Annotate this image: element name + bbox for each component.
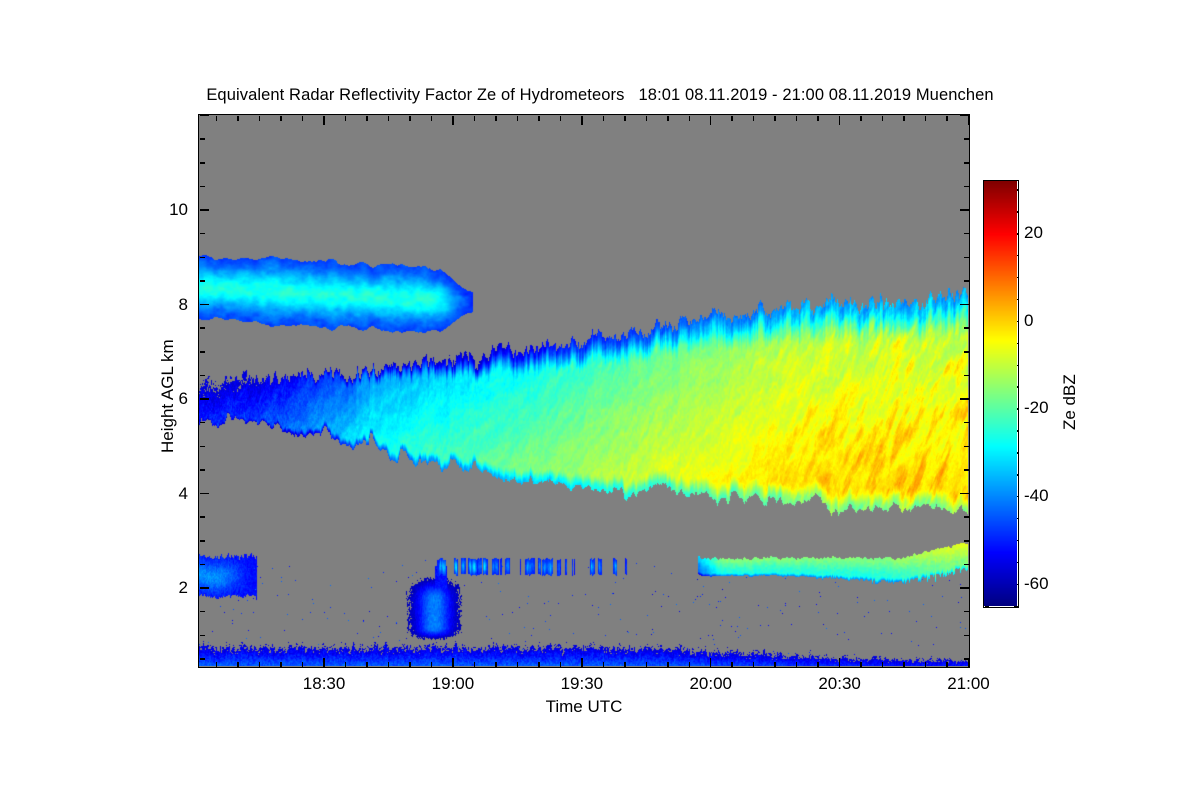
x-minor-tick	[731, 662, 733, 667]
x-minor-tick	[216, 662, 218, 667]
x-minor-tick	[345, 662, 347, 667]
x-minor-tick	[817, 662, 819, 667]
colorbar-tick-label: -60	[1024, 574, 1049, 594]
x-minor-tick-top	[431, 116, 433, 121]
figure-title: Equivalent Radar Reflectivity Factor Ze …	[0, 86, 1200, 105]
y-minor-tick-right	[964, 658, 969, 660]
x-minor-tick-top	[646, 116, 648, 121]
x-minor-tick-top	[624, 116, 626, 121]
x-minor-tick-top	[925, 116, 927, 121]
x-minor-tick	[925, 662, 927, 667]
x-major-tick-top	[452, 116, 454, 125]
x-minor-tick	[796, 662, 798, 667]
x-minor-tick-top	[753, 116, 755, 121]
x-minor-tick-top	[774, 116, 776, 121]
x-major-tick	[323, 658, 325, 667]
x-minor-tick	[603, 662, 605, 667]
x-minor-tick-top	[280, 116, 282, 121]
x-minor-tick-top	[667, 116, 669, 121]
y-minor-tick-right	[964, 375, 969, 377]
y-major-tick-right	[960, 398, 969, 400]
y-minor-tick-right	[964, 257, 969, 259]
x-major-tick	[710, 658, 712, 667]
y-minor-tick	[200, 280, 205, 282]
x-minor-tick	[946, 662, 948, 667]
x-major-tick-top	[323, 116, 325, 125]
x-minor-tick	[753, 662, 755, 667]
y-minor-tick	[200, 516, 205, 518]
x-major-tick-top	[839, 116, 841, 125]
x-minor-tick-top	[860, 116, 862, 121]
x-minor-tick	[495, 662, 497, 667]
colorbar-tick-label: 0	[1024, 311, 1033, 331]
y-major-tick	[200, 304, 209, 306]
x-minor-tick	[538, 662, 540, 667]
y-major-tick	[200, 209, 209, 211]
x-minor-tick	[474, 662, 476, 667]
x-minor-tick	[259, 662, 261, 667]
x-minor-tick-top	[817, 116, 819, 121]
x-tick-label: 20:00	[661, 674, 761, 694]
y-major-tick-right	[960, 587, 969, 589]
x-minor-tick-top	[517, 116, 519, 121]
colorbar-canvas	[984, 181, 1017, 606]
y-minor-tick-right	[964, 635, 969, 637]
y-minor-tick-right	[964, 162, 969, 164]
x-minor-tick	[560, 662, 562, 667]
y-minor-tick-right	[964, 564, 969, 566]
x-minor-tick	[431, 662, 433, 667]
y-major-tick	[200, 493, 209, 495]
x-minor-tick-top	[259, 116, 261, 121]
x-tick-label: 20:30	[790, 674, 890, 694]
x-minor-tick-top	[302, 116, 304, 121]
x-minor-tick	[409, 662, 411, 667]
y-minor-tick	[200, 422, 205, 424]
y-minor-tick-right	[964, 280, 969, 282]
x-minor-tick	[903, 662, 905, 667]
x-major-tick-top	[710, 116, 712, 125]
x-minor-tick	[366, 662, 368, 667]
x-major-tick	[452, 658, 454, 667]
x-minor-tick-top	[495, 116, 497, 121]
y-tick-label: 4	[108, 484, 188, 504]
y-minor-tick	[200, 138, 205, 140]
x-minor-tick-top	[216, 116, 218, 121]
y-major-tick-right	[960, 493, 969, 495]
x-minor-tick	[388, 662, 390, 667]
y-major-tick	[200, 398, 209, 400]
y-major-tick-right	[960, 209, 969, 211]
y-minor-tick	[200, 635, 205, 637]
x-minor-tick	[860, 662, 862, 667]
x-tick-label: 18:30	[274, 674, 374, 694]
x-major-tick-top	[968, 116, 970, 125]
colorbar-tick-label: -20	[1024, 398, 1049, 418]
x-minor-tick	[774, 662, 776, 667]
colorbar-axis-label: Ze dBZ	[1060, 374, 1080, 430]
y-major-tick	[200, 115, 209, 117]
y-minor-tick-right	[964, 516, 969, 518]
x-tick-label: 19:30	[532, 674, 632, 694]
x-major-tick-top	[581, 116, 583, 125]
y-major-tick	[200, 587, 209, 589]
x-minor-tick	[624, 662, 626, 667]
x-minor-tick-top	[882, 116, 884, 121]
y-minor-tick	[200, 611, 205, 613]
y-minor-tick	[200, 658, 205, 660]
colorbar-gradient	[983, 180, 1019, 608]
y-minor-tick	[200, 469, 205, 471]
y-minor-tick-right	[964, 327, 969, 329]
y-minor-tick	[200, 540, 205, 542]
y-minor-tick	[200, 564, 205, 566]
y-minor-tick-right	[964, 611, 969, 613]
radar-reflectivity-figure: Equivalent Radar Reflectivity Factor Ze …	[0, 0, 1200, 800]
x-minor-tick-top	[946, 116, 948, 121]
x-minor-tick	[689, 662, 691, 667]
x-tick-label: 21:00	[919, 674, 1019, 694]
x-minor-tick	[667, 662, 669, 667]
x-minor-tick-top	[796, 116, 798, 121]
x-minor-tick-top	[237, 116, 239, 121]
x-minor-tick	[517, 662, 519, 667]
y-axis-label: Height AGL km	[158, 339, 178, 453]
x-major-tick	[581, 658, 583, 667]
x-minor-tick-top	[538, 116, 540, 121]
x-minor-tick	[882, 662, 884, 667]
colorbar-tick-label: 20	[1024, 223, 1043, 243]
y-minor-tick-right	[964, 422, 969, 424]
y-minor-tick	[200, 162, 205, 164]
colorbar-tick-label: -40	[1024, 486, 1049, 506]
y-minor-tick	[200, 446, 205, 448]
colorbar	[983, 180, 1019, 608]
x-minor-tick-top	[388, 116, 390, 121]
x-minor-tick-top	[689, 116, 691, 121]
x-minor-tick-top	[603, 116, 605, 121]
y-tick-label: 10	[108, 200, 188, 220]
y-minor-tick-right	[964, 138, 969, 140]
y-minor-tick	[200, 351, 205, 353]
x-minor-tick-top	[345, 116, 347, 121]
y-minor-tick-right	[964, 233, 969, 235]
y-minor-tick	[200, 327, 205, 329]
x-minor-tick-top	[474, 116, 476, 121]
x-minor-tick-top	[409, 116, 411, 121]
y-minor-tick	[200, 375, 205, 377]
y-minor-tick	[200, 233, 205, 235]
y-minor-tick-right	[964, 469, 969, 471]
x-minor-tick-top	[903, 116, 905, 121]
x-minor-tick-top	[560, 116, 562, 121]
x-minor-tick-top	[366, 116, 368, 121]
x-minor-tick	[302, 662, 304, 667]
y-minor-tick-right	[964, 351, 969, 353]
plot-area	[198, 114, 970, 668]
x-minor-tick	[237, 662, 239, 667]
y-major-tick-right	[960, 304, 969, 306]
reflectivity-heatmap	[199, 115, 968, 666]
y-minor-tick	[200, 186, 205, 188]
x-minor-tick	[646, 662, 648, 667]
x-tick-label: 19:00	[403, 674, 503, 694]
y-minor-tick-right	[964, 446, 969, 448]
y-tick-label: 2	[108, 578, 188, 598]
x-major-tick	[839, 658, 841, 667]
x-minor-tick-top	[731, 116, 733, 121]
y-tick-label: 8	[108, 295, 188, 315]
x-minor-tick	[280, 662, 282, 667]
y-major-tick-right	[960, 115, 969, 117]
y-minor-tick-right	[964, 540, 969, 542]
y-minor-tick	[200, 257, 205, 259]
x-axis-label: Time UTC	[198, 697, 970, 717]
y-minor-tick-right	[964, 186, 969, 188]
